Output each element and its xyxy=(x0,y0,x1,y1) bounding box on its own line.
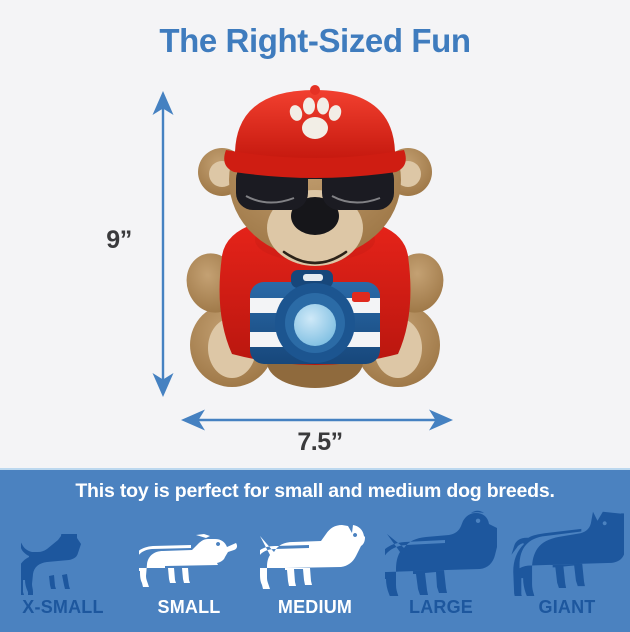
breed-size-list: X-SMALL SMALL MEDIUM LA xyxy=(0,510,630,628)
breed-item-large[interactable]: LARGE xyxy=(378,510,504,628)
page-title: The Right-Sized Fun xyxy=(0,22,630,60)
breed-label-small: SMALL xyxy=(158,598,221,628)
breed-item-giant[interactable]: GIANT xyxy=(504,510,630,628)
double-arrow-vertical-icon xyxy=(146,86,180,402)
dachshund-silhouette-icon xyxy=(139,534,239,596)
breed-panel-caption: This toy is perfect for small and medium… xyxy=(0,480,630,503)
size-guide-infographic: The Right-Sized Fun 9” 7.5” xyxy=(0,0,630,630)
breed-item-x-small[interactable]: X-SMALL xyxy=(0,510,126,628)
baseball-cap xyxy=(224,85,406,178)
breed-label-giant: GIANT xyxy=(539,598,596,628)
breed-label-large: LARGE xyxy=(409,598,473,628)
retriever-silhouette-icon xyxy=(385,510,497,596)
breed-label-medium: MEDIUM xyxy=(278,598,352,628)
breed-label-x-small: X-SMALL xyxy=(22,598,103,628)
width-measurement-label: 7.5” xyxy=(255,428,385,457)
product-image-plush-bear xyxy=(180,80,450,410)
great-dane-silhouette-icon xyxy=(510,510,624,596)
breed-item-small[interactable]: SMALL xyxy=(126,510,252,628)
breed-item-medium[interactable]: MEDIUM xyxy=(252,510,378,628)
chihuahua-silhouette-icon xyxy=(21,534,105,596)
breed-size-panel: This toy is perfect for small and medium… xyxy=(0,468,630,632)
toy-camera xyxy=(250,270,380,364)
height-measurement-label: 9” xyxy=(96,226,142,255)
bull-terrier-silhouette-icon xyxy=(260,524,370,596)
